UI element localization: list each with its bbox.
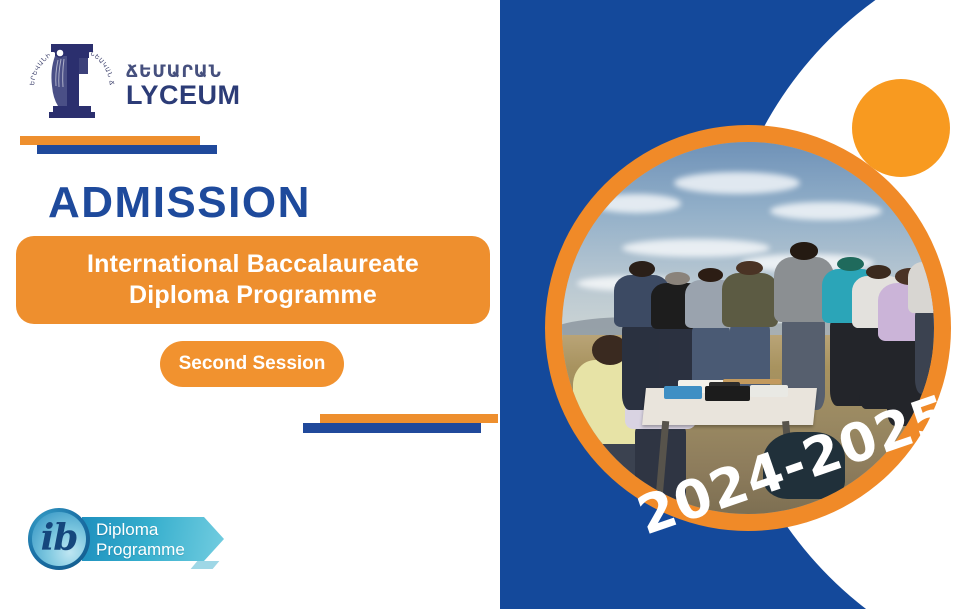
photo-table-item: [750, 385, 788, 396]
ib-ribbon-text: Diploma Programme: [96, 520, 185, 560]
programme-band: International Baccalaureate Diploma Prog…: [16, 236, 490, 324]
footer-bar-blue: [303, 423, 481, 433]
header-rule-blue: [37, 145, 217, 154]
orange-accent-circle: [852, 79, 950, 177]
footer-bar-orange: [320, 414, 498, 423]
school-name-latin: LYCEUM: [126, 82, 241, 109]
photo-person-head: [790, 242, 819, 259]
programme-title-line1: International Baccalaureate: [87, 249, 419, 281]
programme-title-line2: Diploma Programme: [129, 280, 377, 312]
column-pillar-emblem: ԵՐԵՎԱՆԻ • ՔՐԻՍՏՈՆԵԱԿԱՆ ՃԵՄԱՐԱՆ • ԴՊՐՈՑ: [22, 28, 122, 126]
photo-person: [722, 261, 778, 462]
ib-diploma-programme-logo: Diploma Programme ib: [28, 508, 224, 570]
admission-poster: 2024-2025 ԵՐԵՎԱՆԻ • ՔՐԻՍՏՈՆԵԱԿԱՆ ՃԵՄԱՐԱՆ…: [0, 0, 980, 609]
session-badge: Second Session: [160, 341, 344, 387]
photo-table-item: [705, 386, 749, 401]
session-badge-label: Second Session: [179, 353, 326, 375]
photo-table-item: [664, 386, 702, 398]
school-logo-wordmark: ՃԵՄԱՐԱՆ LYCEUM: [126, 64, 241, 109]
ib-text-line2: Programme: [96, 540, 185, 560]
photo-person-body: [908, 262, 934, 313]
ib-badge-circle: ib: [28, 508, 90, 570]
ib-ribbon-fold: [191, 561, 220, 569]
ib-ribbon-notch: [204, 517, 224, 561]
header-rule-orange: [20, 136, 200, 145]
photo-cloud: [770, 202, 882, 221]
page-title: ADMISSION: [48, 178, 311, 228]
photo-cloud: [592, 194, 681, 213]
ib-monogram: ib: [32, 512, 86, 566]
photo-cloud: [674, 172, 800, 194]
school-name-armenian: ՃԵՄԱՐԱՆ: [126, 64, 241, 81]
ib-badge-inner: ib: [32, 512, 86, 566]
school-logo: ԵՐԵՎԱՆԻ • ՔՐԻՍՏՈՆԵԱԿԱՆ ՃԵՄԱՐԱՆ • ԴՊՐՈՑ: [22, 28, 222, 126]
photo-person-body: [722, 273, 778, 327]
photo-person-legs: [915, 311, 934, 394]
ib-text-line1: Diploma: [96, 520, 185, 540]
